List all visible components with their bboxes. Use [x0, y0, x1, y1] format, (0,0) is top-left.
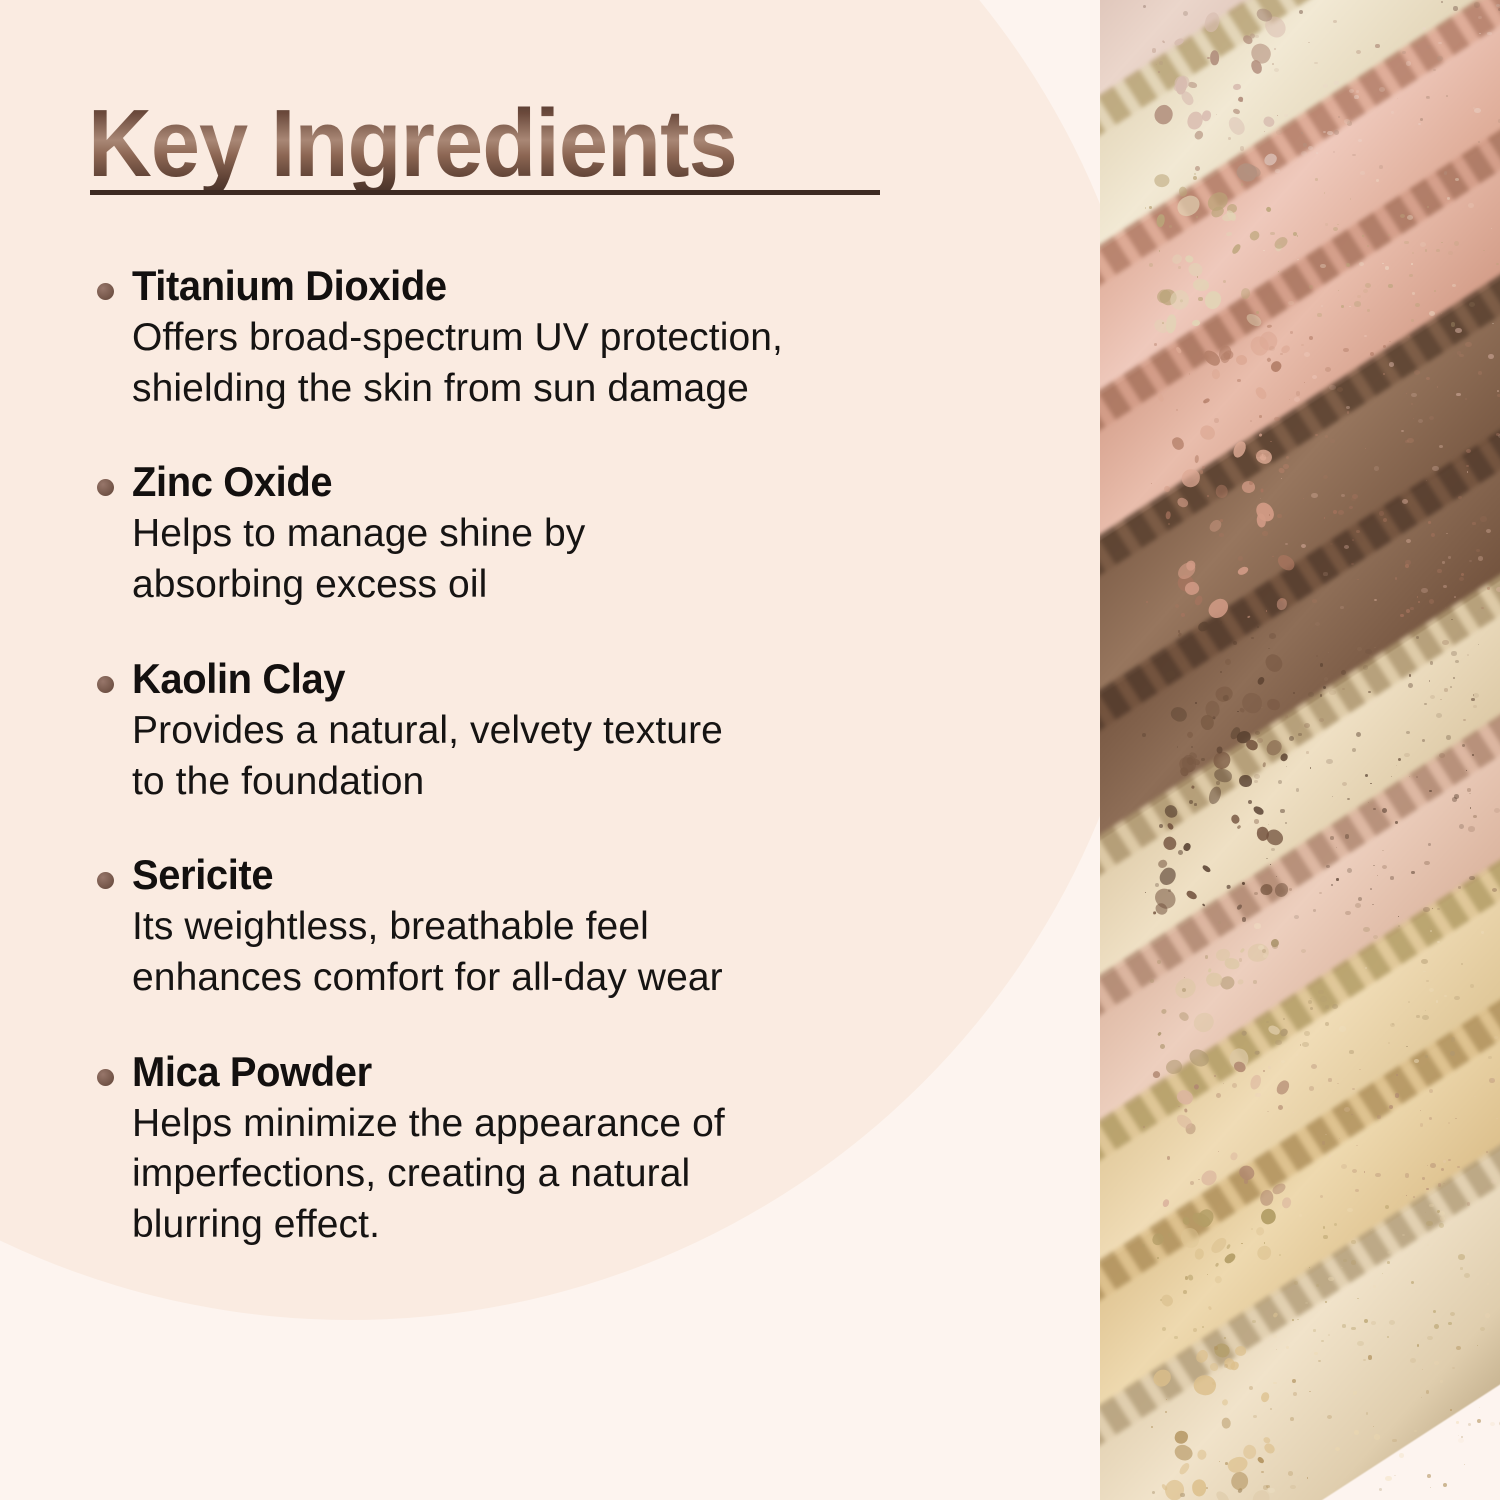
powder-speckle [1344, 545, 1349, 549]
powder-speckle [1352, 1088, 1355, 1090]
powder-speckle [1434, 1361, 1439, 1365]
powder-grain [1197, 276, 1198, 277]
powder-speckle [1330, 439, 1335, 443]
powder-speckle [1422, 27, 1426, 30]
powder-speckle [1316, 655, 1319, 657]
powder-speckle [1301, 151, 1307, 156]
powder-grain [1166, 1399, 1167, 1400]
powder-speckle [1357, 1341, 1363, 1346]
powder-speckle [1281, 1060, 1285, 1063]
powder-grain [1365, 774, 1368, 777]
powder-speckle [1374, 466, 1380, 471]
powder-grain [1308, 1000, 1312, 1004]
powder-grain [1411, 1281, 1414, 1284]
powder-speckle [1266, 1021, 1269, 1023]
powder-grain [1395, 577, 1397, 579]
powder-grain [1289, 736, 1294, 741]
powder-speckle [1269, 633, 1276, 639]
powder-speckle [1375, 1173, 1380, 1177]
powder-speckle [1255, 35, 1259, 38]
powder-grain [1283, 1018, 1285, 1020]
powder-speckle [1485, 1313, 1490, 1317]
powder-grain [1182, 988, 1186, 992]
powder-speckle [1458, 1438, 1464, 1443]
powder-speckle [1296, 1054, 1298, 1056]
powder-grain [1477, 1419, 1481, 1423]
powder-grain [1426, 980, 1429, 983]
powder-speckle [1356, 1145, 1357, 1146]
powder-speckle [1289, 399, 1290, 400]
powder-speckle [1315, 434, 1318, 436]
powder-speckle [1454, 794, 1460, 799]
ingredient-item: Mica PowderHelps minimize the appearance… [0, 1048, 1060, 1251]
powder-speckle [1360, 171, 1364, 174]
powder-speckle [1320, 264, 1326, 269]
powder-grain [1207, 57, 1209, 59]
powder-grain [1292, 1319, 1294, 1321]
powder-grain [1325, 435, 1328, 438]
powder-grain [1270, 1408, 1272, 1410]
powder-speckle [1332, 1004, 1338, 1009]
powder-grain [1408, 683, 1413, 688]
powder-grain [1242, 917, 1247, 922]
powder-speckle [1306, 751, 1309, 753]
powder-speckle [1326, 865, 1330, 868]
powder-grain [1428, 521, 1431, 524]
powder-speckle [1494, 1036, 1498, 1039]
powder-speckle [1314, 62, 1317, 65]
powder-grain [1395, 821, 1398, 824]
powder-speckle [1389, 341, 1390, 342]
ingredient-name: Zinc Oxide [132, 458, 1014, 505]
powder-speckle [1315, 178, 1318, 180]
powder-speckle [1325, 1005, 1329, 1009]
bullet-icon [97, 479, 114, 496]
powder-speckle [1450, 686, 1452, 688]
powder-speckle [1469, 302, 1475, 307]
ingredient-item: SericiteIts weightless, breathable feele… [0, 851, 1060, 1003]
powder-bands-canvas [1100, 0, 1500, 1500]
powder-grain [1176, 409, 1178, 411]
powder-speckle [1324, 677, 1328, 680]
powder-speckle [1454, 996, 1459, 1000]
powder-grain [1368, 1355, 1372, 1359]
powder-grain [1152, 48, 1156, 52]
powder-speckle [1382, 263, 1384, 264]
powder-grain [1158, 71, 1159, 72]
powder-speckle [1327, 1415, 1332, 1419]
page-title-wrapper: Key Ingredients [88, 96, 918, 192]
powder-speckle [1325, 367, 1331, 372]
ingredient-description-line: to the foundation [132, 757, 1032, 808]
powder-speckle [1309, 1086, 1314, 1090]
powder-speckle [1333, 20, 1337, 23]
bullet-icon [97, 676, 114, 693]
powder-speckle [1347, 798, 1350, 800]
powder-grain [1168, 523, 1170, 525]
powder-grain [1416, 1015, 1419, 1018]
powder-speckle [1334, 81, 1338, 84]
powder-speckle [1439, 753, 1445, 758]
powder-speckle [1440, 1216, 1446, 1221]
powder-grain [1471, 698, 1475, 702]
powder-speckle [1408, 1001, 1410, 1003]
powder-grain [1149, 206, 1152, 209]
powder-grain [1405, 564, 1409, 568]
powder-grain [1190, 1181, 1194, 1185]
ingredient-item: Kaolin ClayProvides a natural, velvety t… [0, 655, 1060, 807]
powder-grain [1159, 824, 1163, 828]
powder-grain [1459, 824, 1464, 829]
powder-speckle [1323, 475, 1328, 479]
powder-grain [1325, 1022, 1329, 1026]
powder-speckle [1288, 1471, 1294, 1476]
powder-speckle [1276, 130, 1282, 135]
powder-speckle [1352, 1169, 1357, 1173]
powder-speckle [1354, 95, 1359, 99]
ingredient-description-line: blurring effect. [132, 1200, 1032, 1251]
powder-speckle [1455, 178, 1459, 181]
powder-grain [1420, 118, 1423, 121]
powder-grain [1316, 1284, 1319, 1287]
powder-speckle [1496, 587, 1500, 592]
powder-speckle [1254, 780, 1258, 783]
powder-speckle [1480, 516, 1487, 521]
powder-grain [1218, 921, 1221, 924]
powder-speckle [1294, 915, 1299, 919]
powder-grain [1320, 1195, 1323, 1198]
powder-speckle [1373, 808, 1375, 810]
powder-speckle [1406, 61, 1411, 65]
ingredient-description-line: absorbing excess oil [132, 560, 1032, 611]
powder-speckle [1312, 375, 1317, 379]
powder-grain [1168, 889, 1171, 892]
powder-speckle [1474, 2, 1480, 7]
powder-grain [1317, 313, 1322, 318]
powder-speckle [1341, 494, 1345, 497]
powder-speckle [1414, 1059, 1419, 1063]
powder-grain [1439, 1223, 1444, 1228]
powder-grain [1300, 1044, 1301, 1045]
powder-speckle [1304, 723, 1310, 728]
powder-speckle [1323, 131, 1326, 133]
ingredient-name: Titanium Dioxide [132, 262, 1014, 309]
powder-grain [1446, 735, 1451, 740]
powder-grain [1422, 739, 1425, 742]
powder-speckle [1438, 42, 1441, 45]
powder-grain [1346, 263, 1350, 267]
powder-grain [1358, 897, 1362, 901]
powder-speckle [1404, 753, 1410, 757]
powder-speckle [1345, 911, 1351, 915]
powder-speckle [1357, 647, 1362, 651]
powder-grain [1441, 1168, 1444, 1171]
powder-speckle [1420, 242, 1426, 247]
powder-speckle [1315, 622, 1320, 626]
powder-speckle [1299, 1214, 1302, 1216]
powder-grain [1356, 732, 1361, 737]
powder-grain [1233, 641, 1237, 645]
powder-grain [1219, 533, 1224, 538]
powder-speckle [1478, 556, 1484, 561]
powder-grain [1388, 284, 1393, 289]
powder-speckle [1436, 1000, 1439, 1002]
powder-speckle [1342, 688, 1345, 690]
powder-speckle [1487, 32, 1491, 36]
powder-speckle [1430, 930, 1432, 932]
powder-speckle [1365, 967, 1367, 968]
powder-crumb [1193, 279, 1210, 291]
powder-grain [1174, 1336, 1178, 1340]
powder-grain [1370, 888, 1372, 890]
powder-grain [1159, 61, 1163, 65]
powder-grain [1426, 1390, 1429, 1393]
powder-speckle [1347, 1208, 1352, 1212]
powder-grain [1228, 137, 1231, 140]
powder-speckle [1269, 346, 1275, 351]
powder-speckle [1273, 1335, 1277, 1338]
powder-speckle [1448, 1122, 1450, 1124]
powder-grain [1193, 176, 1197, 180]
powder-grain [1178, 266, 1181, 269]
powder-speckle [1356, 90, 1359, 92]
powder-grain [1204, 401, 1206, 403]
powder-speckle [1275, 169, 1280, 173]
powder-grain [1193, 1328, 1197, 1332]
powder-speckle [1290, 331, 1294, 334]
powder-grain [1308, 42, 1309, 43]
powder-grain [1382, 808, 1387, 813]
powder-grain [1175, 604, 1179, 608]
powder-speckle [1294, 397, 1300, 402]
powder-grain [1310, 1007, 1313, 1010]
powder-grain [1280, 598, 1283, 601]
powder-grain [1429, 1089, 1433, 1093]
powder-grain [1178, 850, 1183, 855]
ingredient-description-line: Helps to manage shine by [132, 509, 1032, 560]
powder-grain [1154, 343, 1157, 346]
powder-speckle [1473, 694, 1475, 695]
powder-speckle [1473, 107, 1475, 109]
powder-swatch-photo [1100, 0, 1500, 1500]
powder-grain [1341, 305, 1344, 308]
powder-grain [1178, 1106, 1179, 1107]
powder-grain [1345, 834, 1350, 839]
powder-speckle [1254, 892, 1258, 895]
powder-grain [1218, 1151, 1219, 1152]
powder-crumb [1221, 1418, 1230, 1429]
powder-speckle [1497, 390, 1499, 392]
powder-speckle [1304, 1031, 1310, 1036]
powder-grain [1406, 609, 1410, 613]
powder-grain [1430, 1487, 1431, 1488]
powder-grain [1451, 1037, 1455, 1041]
powder-grain [1150, 979, 1153, 982]
powder-grain [1427, 1474, 1431, 1478]
powder-grain [1396, 1074, 1398, 1076]
powder-speckle [1418, 419, 1423, 423]
powder-grain [1424, 703, 1427, 706]
powder-grain [1214, 1346, 1217, 1349]
powder-speckle [1288, 301, 1294, 305]
powder-grain [1323, 1235, 1327, 1239]
powder-speckle [1311, 493, 1318, 499]
ingredient-description: Provides a natural, velvety textureto th… [132, 706, 1032, 807]
powder-grain [1301, 132, 1303, 134]
powder-grain [1438, 1183, 1441, 1186]
powder-speckle [1405, 560, 1411, 564]
powder-grain [1429, 1117, 1432, 1120]
powder-speckle [1356, 530, 1360, 533]
powder-grain [1225, 1462, 1228, 1465]
powder-speckle [1458, 1254, 1465, 1259]
powder-speckle [1329, 1155, 1331, 1157]
powder-speckle [1385, 1476, 1392, 1481]
powder-speckle [1496, 4, 1500, 7]
powder-crumb [1179, 187, 1187, 197]
powder-grain [1296, 788, 1300, 792]
powder-grain [1191, 358, 1192, 359]
ingredient-name: Sericite [132, 851, 1014, 898]
powder-grain [1206, 1487, 1208, 1489]
powder-grain [1418, 601, 1420, 603]
powder-grain [1216, 781, 1219, 784]
powder-speckle [1425, 1212, 1426, 1213]
powder-grain [1278, 1105, 1283, 1110]
powder-speckle [1377, 1115, 1381, 1119]
powder-speckle [1318, 1360, 1321, 1362]
powder-speckle [1313, 1329, 1316, 1331]
powder-speckle [1424, 861, 1430, 865]
powder-grain [1266, 610, 1268, 612]
powder-speckle [1437, 941, 1440, 943]
powder-speckle [1374, 599, 1377, 601]
powder-speckle [1349, 506, 1353, 509]
powder-grain [1334, 130, 1339, 135]
powder-speckle [1404, 241, 1409, 245]
powder-speckle [1266, 1485, 1270, 1488]
powder-grain [1160, 1299, 1162, 1301]
powder-grain [1157, 960, 1161, 964]
ingredient-description-line: Its weightless, breathable feel [132, 902, 1032, 953]
powder-speckle [1390, 876, 1394, 879]
powder-speckle [1439, 445, 1443, 448]
powder-speckle [1252, 1320, 1256, 1323]
ingredient-description-line: shielding the skin from sun damage [132, 364, 1032, 415]
powder-grain [1220, 671, 1222, 673]
powder-grain [1292, 1379, 1296, 1383]
ingredient-item: Titanium DioxideOffers broad-spectrum UV… [0, 262, 1060, 414]
powder-speckle [1433, 69, 1435, 71]
text-content-column: Key Ingredients Titanium DioxideOffers b… [0, 0, 1080, 1500]
powder-speckle [1254, 923, 1261, 928]
powder-speckle [1454, 596, 1457, 598]
powder-speckle [1340, 606, 1344, 609]
powder-speckle [1369, 655, 1373, 658]
powder-grain [1336, 878, 1338, 880]
powder-speckle [1353, 1391, 1357, 1394]
powder-grain [1333, 510, 1337, 514]
powder-grain [1248, 800, 1252, 804]
powder-speckle [1488, 354, 1494, 359]
powder-grain [1205, 955, 1209, 959]
powder-speckle [1328, 1277, 1334, 1282]
ingredient-description-line: imperfections, creating a natural [132, 1149, 1032, 1200]
powder-grain [1357, 579, 1358, 580]
powder-speckle [1437, 908, 1440, 910]
powder-speckle [1478, 371, 1482, 374]
ingredient-description: Helps to manage shine byabsorbing excess… [132, 509, 1032, 610]
ingredient-name: Kaolin Clay [132, 655, 1014, 702]
powder-grain [1420, 1110, 1422, 1112]
powder-speckle [1427, 1244, 1429, 1246]
powder-speckle [1341, 1164, 1347, 1169]
powder-speckle [1473, 815, 1477, 818]
powder-speckle [1308, 692, 1314, 697]
powder-speckle [1430, 695, 1435, 699]
powder-speckle [1319, 892, 1322, 894]
powder-speckle [1254, 774, 1260, 779]
powder-speckle [1448, 251, 1453, 255]
powder-speckle [1310, 998, 1311, 999]
key-ingredients-infographic: Key Ingredients Titanium DioxideOffers b… [0, 0, 1500, 1500]
powder-crumb [1209, 50, 1219, 65]
ingredient-description-line: Provides a natural, velvety texture [132, 706, 1032, 757]
powder-speckle [1468, 826, 1475, 831]
powder-speckle [1313, 909, 1316, 911]
powder-grain [1293, 1392, 1297, 1396]
powder-speckle [1451, 651, 1457, 655]
powder-grain [1453, 677, 1455, 679]
powder-speckle [1415, 303, 1420, 307]
powder-grain [1417, 1344, 1419, 1346]
powder-speckle [1480, 1327, 1485, 1331]
powder-speckle [1338, 510, 1344, 515]
bullet-icon [97, 872, 114, 889]
powder-grain [1328, 1078, 1331, 1081]
powder-speckle [1488, 1056, 1491, 1059]
powder-grain [1368, 691, 1370, 693]
powder-speckle [1339, 1026, 1345, 1031]
powder-speckle [1302, 1042, 1308, 1047]
title-underline-rule [90, 190, 880, 195]
powder-grain [1298, 733, 1301, 736]
powder-speckle [1391, 111, 1395, 114]
powder-grain [1309, 336, 1313, 340]
powder-speckle [1388, 1042, 1390, 1044]
powder-speckle [1464, 1464, 1465, 1465]
powder-speckle [1329, 690, 1336, 695]
powder-speckle [1371, 1321, 1376, 1325]
powder-grain [1146, 601, 1148, 603]
powder-grain [1367, 245, 1369, 247]
powder-grain [1385, 1205, 1389, 1209]
powder-grain [1461, 963, 1463, 965]
powder-speckle [1253, 1415, 1257, 1418]
powder-speckle [1487, 587, 1490, 590]
powder-grain [1466, 770, 1467, 771]
powder-speckle [1325, 223, 1328, 226]
powder-grain [1437, 569, 1441, 573]
powder-speckle [1389, 362, 1394, 366]
powder-grain [1351, 1240, 1355, 1244]
powder-grain [1420, 1123, 1423, 1126]
powder-grain [1196, 216, 1198, 218]
powder-speckle [1387, 1336, 1389, 1337]
powder-speckle [1316, 152, 1318, 154]
powder-speckle [1275, 1040, 1281, 1045]
powder-grain [1194, 803, 1197, 806]
